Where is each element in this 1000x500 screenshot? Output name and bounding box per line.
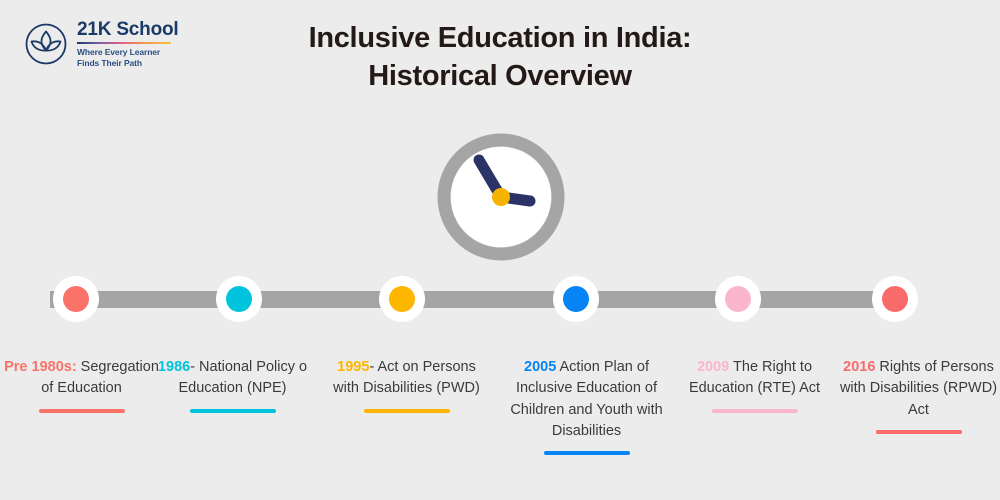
milestone-year: 1995 (337, 359, 369, 375)
milestone-column-5: 2009 The Right to Education (RTE) Act (673, 357, 836, 413)
timeline-node-5[interactable] (715, 276, 761, 322)
timeline-node-dot (725, 286, 751, 312)
milestone-underline (39, 409, 125, 413)
timeline-node-dot (389, 286, 415, 312)
milestone-year: 2009 (697, 359, 729, 375)
milestone-column-4: 2005 Action Plan of Inclusive Education … (505, 357, 668, 455)
milestone-underline (544, 451, 630, 455)
milestone-underline (712, 409, 798, 413)
milestone-year: 1986 (158, 359, 190, 375)
timeline-node-3[interactable] (379, 276, 425, 322)
milestone-underline (364, 409, 450, 413)
brand-name: 21K School (77, 20, 178, 40)
timeline-node-dot (63, 286, 89, 312)
brand-tagline-line1: Where Every Learner (77, 47, 160, 57)
timeline-node-4[interactable] (553, 276, 599, 322)
page-title: Inclusive Education in India: Historical… (250, 20, 750, 95)
brand-gradient-rule (77, 42, 171, 45)
timeline-node-6[interactable] (872, 276, 918, 322)
page-title-line1: Inclusive Education in India: (309, 22, 692, 54)
milestone-column-2: 1986- National Policy o Education (NPE) (151, 357, 314, 413)
milestone-column-1: Pre 1980s: Segregation of Education (0, 357, 163, 413)
timeline-node-1[interactable] (53, 276, 99, 322)
milestone-description: - National Policy o Education (NPE) (179, 359, 308, 396)
milestone-underline (190, 409, 276, 413)
milestone-text: 1995- Act on Persons with Disabilities (… (325, 357, 488, 400)
milestone-text: 2016 Rights of Persons with Disabilities… (837, 357, 1000, 421)
milestone-year: 2016 (843, 359, 875, 375)
brand-tagline-line2: Finds Their Path (77, 58, 142, 68)
timeline-node-2[interactable] (216, 276, 262, 322)
milestone-text: 2005 Action Plan of Inclusive Education … (505, 357, 668, 442)
milestone-underline (876, 430, 962, 434)
milestone-column-6: 2016 Rights of Persons with Disabilities… (837, 357, 1000, 434)
timeline-track (50, 291, 916, 308)
brand-logo: 21K School Where Every Learner Finds The… (24, 20, 178, 69)
timeline-node-dot (226, 286, 252, 312)
milestone-text: Pre 1980s: Segregation of Education (0, 357, 163, 400)
milestone-column-3: 1995- Act on Persons with Disabilities (… (325, 357, 488, 413)
milestone-text: 1986- National Policy o Education (NPE) (151, 357, 314, 400)
milestone-year: 2005 (524, 359, 556, 375)
page-title-line2: Historical Overview (368, 60, 632, 92)
timeline-node-dot (563, 286, 589, 312)
brand-logo-text: 21K School Where Every Learner Finds The… (77, 20, 178, 69)
milestone-text: 2009 The Right to Education (RTE) Act (673, 357, 836, 400)
timeline-node-dot (882, 286, 908, 312)
clock-icon (437, 133, 565, 261)
lotus-in-circle-logo-mark (24, 22, 68, 66)
brand-tagline: Where Every Learner Finds Their Path (77, 47, 178, 68)
milestone-year: Pre 1980s: (4, 359, 77, 375)
